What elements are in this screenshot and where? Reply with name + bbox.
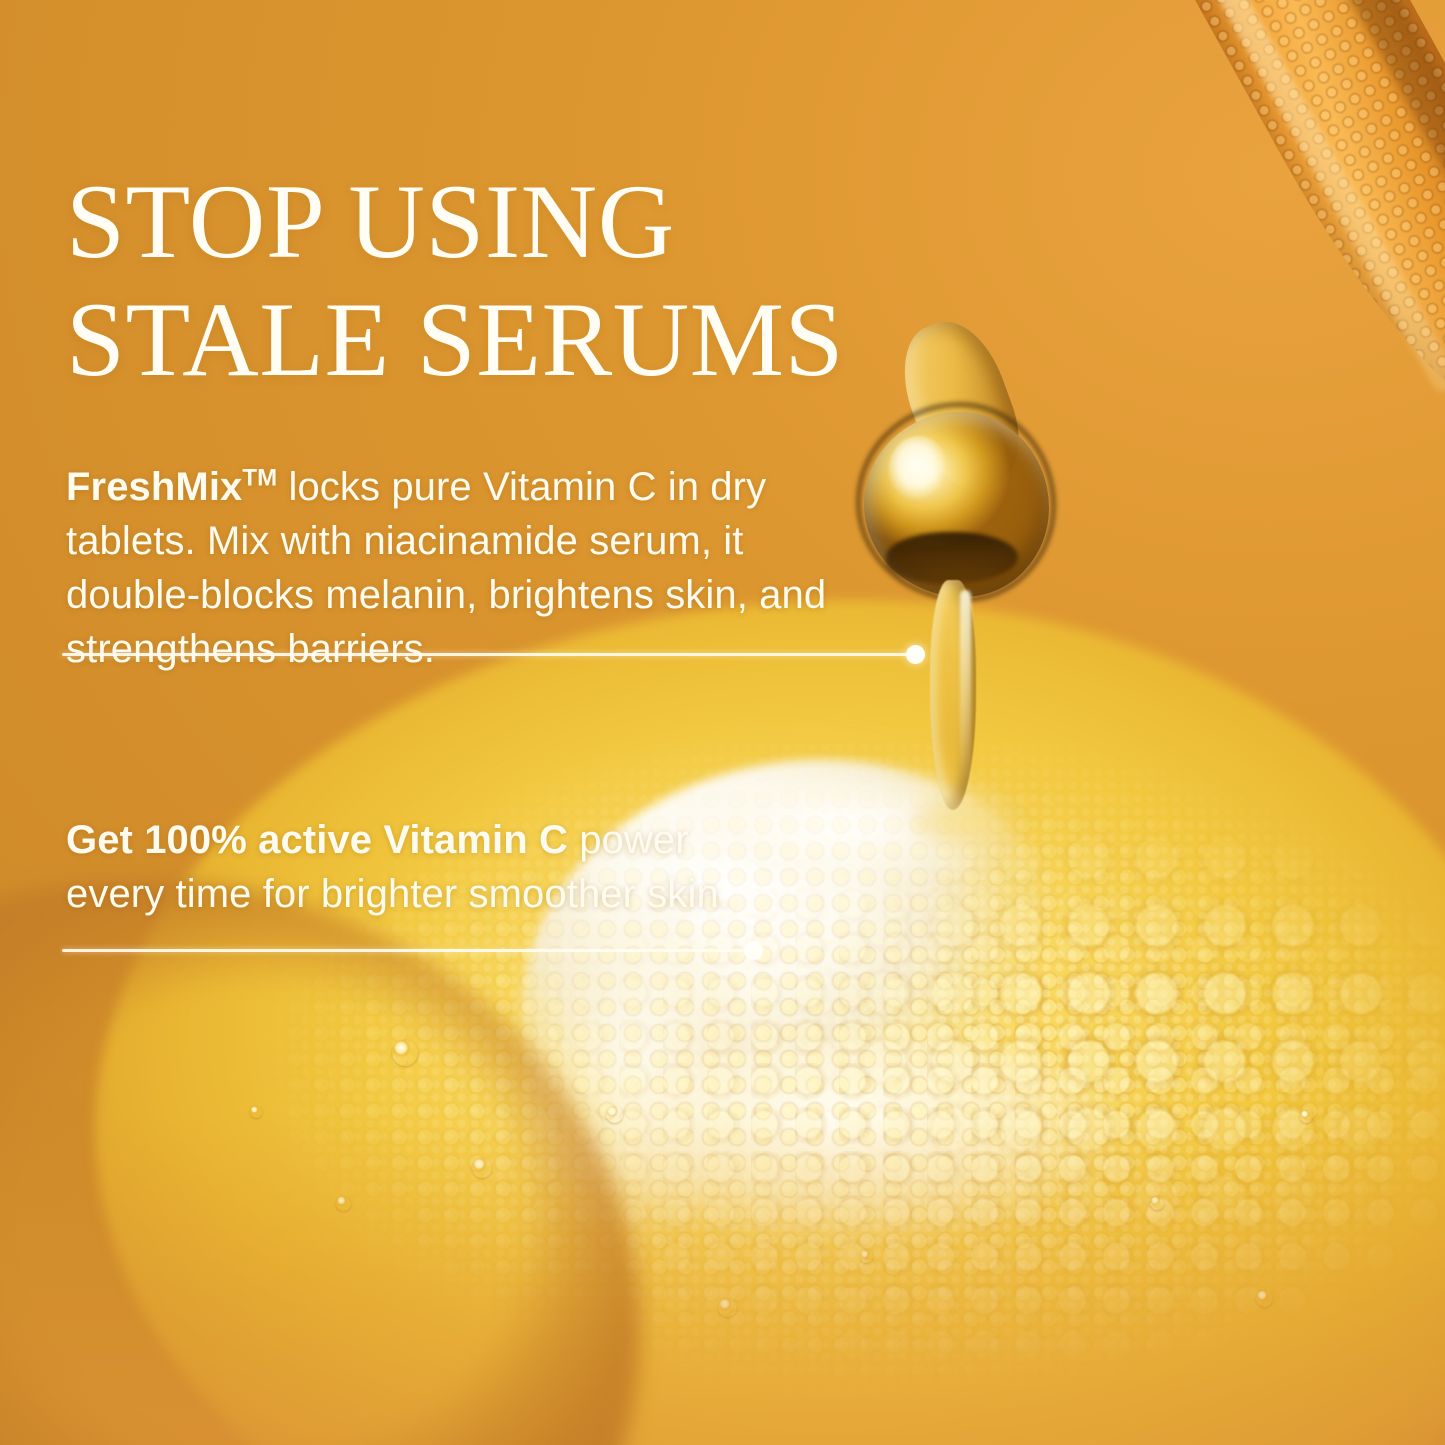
- callout-leader-line-1: [62, 653, 920, 656]
- product-ad-banner: STOP USING STALE SERUMS FreshMixTM locks…: [0, 0, 1445, 1445]
- brand-name-freshmix: FreshMix: [66, 465, 242, 509]
- benefit-bold-freshmix: FreshMixTM: [66, 465, 277, 509]
- benefit-bold-active-vitamin-c: Get 100% active Vitamin C: [66, 818, 568, 862]
- benefit-text-freshmix: FreshMixTM locks pure Vitamin C in dry t…: [66, 460, 856, 676]
- callout-leader-line-2: [62, 949, 758, 952]
- trademark-symbol: TM: [242, 465, 277, 492]
- callout-dot-2: [744, 941, 763, 960]
- callout-dot-1: [906, 645, 925, 664]
- headline-line-1: STOP USING: [66, 163, 1076, 281]
- headline: STOP USING STALE SERUMS: [66, 163, 1076, 399]
- headline-line-2: STALE SERUMS: [66, 281, 1076, 399]
- benefit-text-active-vitamin-c: Get 100% active Vitamin C power every ti…: [66, 813, 786, 921]
- ad-copy-overlay: STOP USING STALE SERUMS FreshMixTM locks…: [0, 0, 1445, 1445]
